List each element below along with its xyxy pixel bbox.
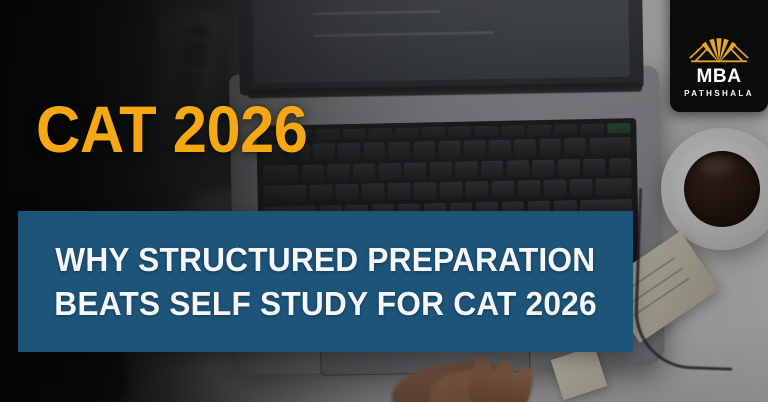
title-line-2: BEATS SELF STUDY FOR CAT 2026 <box>54 287 596 321</box>
title-line-1: WHY STRUCTURED PREPARATION <box>55 243 595 277</box>
logo-name: MBA <box>696 67 741 86</box>
logo-subtitle: PATHSHALA <box>684 90 754 98</box>
brand-logo[interactable]: MBA PATHSHALA <box>670 0 768 112</box>
sunburst-rays-icon <box>688 35 750 63</box>
title-banner: WHY STRUCTURED PREPARATION BEATS SELF ST… <box>18 211 633 352</box>
kicker-heading: CAT 2026 <box>36 96 307 162</box>
blog-banner: CAT 2026 WHY STRUCTURED PREPARATION BEAT… <box>0 0 768 402</box>
